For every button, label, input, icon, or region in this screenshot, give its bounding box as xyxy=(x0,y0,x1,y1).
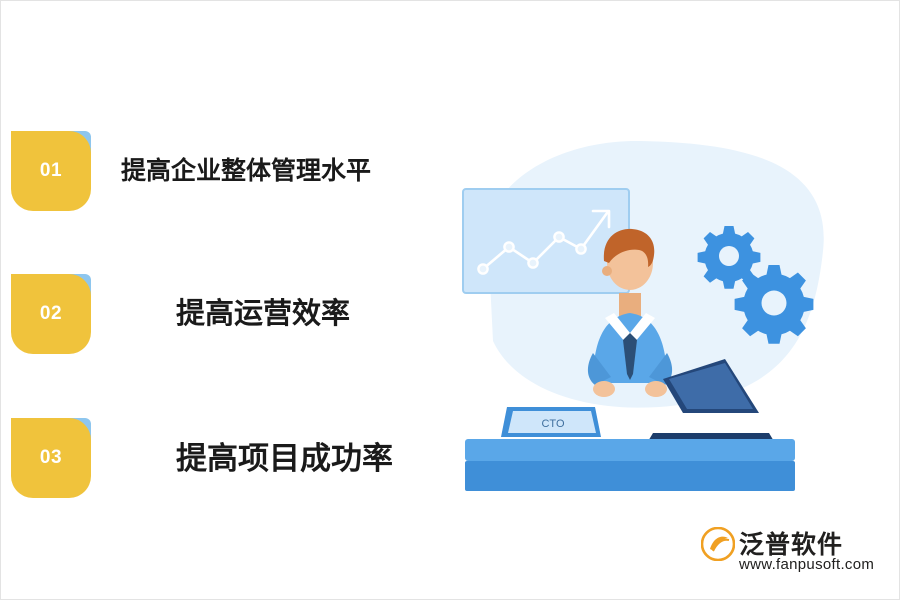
badge-01: 01 xyxy=(11,131,91,211)
desk xyxy=(465,439,795,491)
list-item: 01 提高企业整体管理水平 xyxy=(1,131,441,221)
list-item: 03 提高项目成功率 xyxy=(1,418,441,508)
badge-number: 02 xyxy=(11,274,91,354)
badge-03: 03 xyxy=(11,418,91,498)
logo-mark-icon xyxy=(701,527,735,561)
monitor-label: CTO xyxy=(541,418,564,430)
badge-number: 03 xyxy=(11,418,91,498)
list-item-label: 提高企业整体管理水平 xyxy=(121,151,371,187)
badge-number: 01 xyxy=(11,131,91,211)
logo-url: www.fanpusoft.com xyxy=(739,556,874,573)
illustration-businessman-at-desk: CTO xyxy=(441,121,841,501)
badge-02: 02 xyxy=(11,274,91,354)
list-item-label: 提高运营效率 xyxy=(176,290,350,332)
desktop-monitor: CTO xyxy=(501,407,601,437)
chart-board-icon xyxy=(463,189,629,293)
list-item: 02 提高运营效率 xyxy=(1,274,441,364)
list-item-label: 提高项目成功率 xyxy=(176,433,393,478)
slide-canvas: 01 提高企业整体管理水平 02 提高运营效率 03 提高项目成功率 xyxy=(0,0,900,600)
brand-logo: 泛普软件 www.fanpusoft.com xyxy=(701,525,881,581)
